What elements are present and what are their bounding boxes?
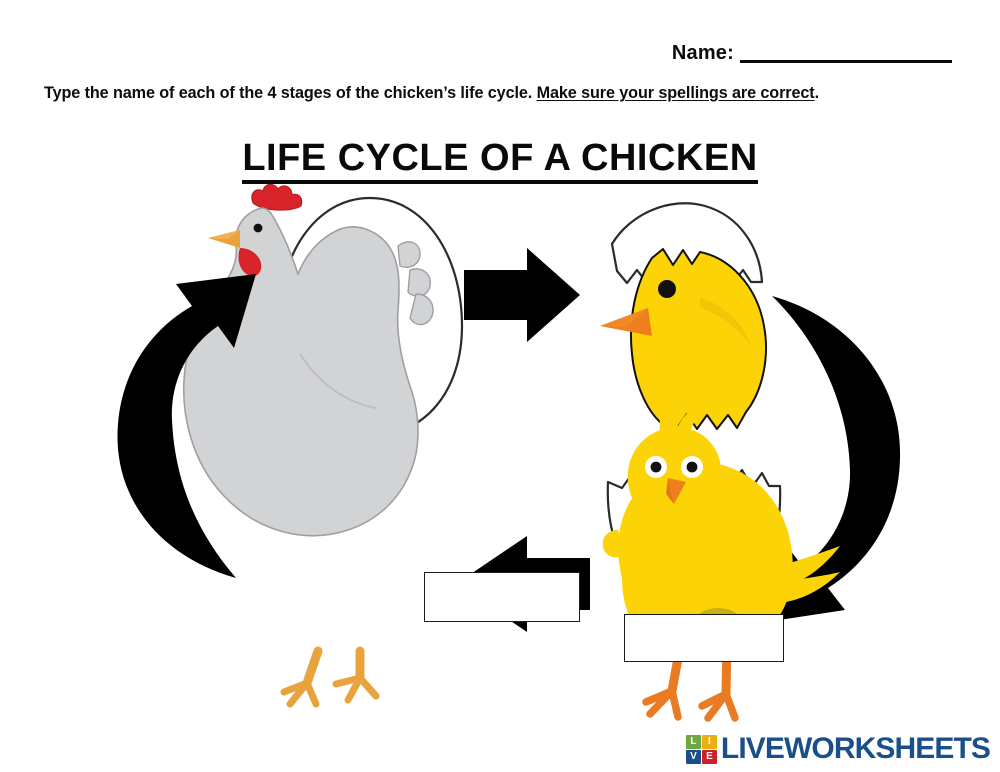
worksheet-page: Name: Type the name of each of the 4 sta… bbox=[0, 0, 1000, 772]
logo-tile-v: V bbox=[686, 750, 701, 764]
answer-box-hatching[interactable] bbox=[624, 614, 784, 662]
logo-tile-l: L bbox=[686, 735, 701, 749]
chick-icon bbox=[603, 392, 840, 718]
logo-tile-i: I bbox=[702, 735, 717, 749]
page-title-text: LIFE CYCLE OF A CHICKEN bbox=[242, 138, 757, 184]
instruction-text: Type the name of each of the 4 stages of… bbox=[44, 84, 960, 103]
hen-icon bbox=[184, 184, 433, 704]
instruction-part1: Type the name of each of the 4 stages of… bbox=[44, 84, 537, 102]
instruction-emphasis: Make sure your spellings are correct bbox=[537, 84, 815, 102]
name-label: Name: bbox=[672, 43, 734, 63]
chicken-life-cycle-diagram bbox=[0, 186, 1000, 726]
liveworksheets-wordmark: LIVEWORKSHEETS bbox=[721, 734, 990, 764]
name-field-row: Name: bbox=[672, 40, 952, 63]
arrow-right-icon bbox=[464, 248, 580, 342]
name-input-blank[interactable] bbox=[740, 40, 952, 63]
answer-box-egg[interactable] bbox=[424, 572, 580, 622]
liveworksheets-logo-tiles: L I V E bbox=[686, 735, 717, 764]
logo-tile-e: E bbox=[702, 750, 717, 764]
liveworksheets-logo[interactable]: L I V E LIVEWORKSHEETS bbox=[686, 734, 990, 764]
page-title: LIFE CYCLE OF A CHICKEN bbox=[0, 138, 1000, 184]
instruction-part2: . bbox=[815, 84, 819, 102]
